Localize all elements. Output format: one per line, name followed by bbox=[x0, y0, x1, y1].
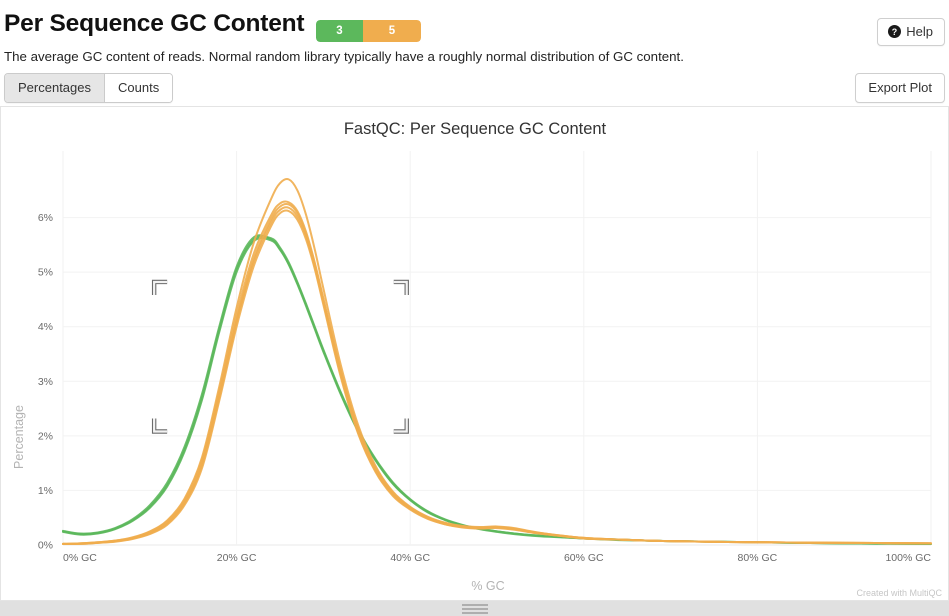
chart-series-group[interactable] bbox=[63, 179, 931, 544]
svg-text:20% GC: 20% GC bbox=[217, 552, 257, 564]
status-badge-group: 3 5 bbox=[316, 20, 421, 42]
x-axis-title: % GC bbox=[471, 579, 504, 593]
multiqc-plot-page: Per Sequence GC Content 3 5 ? Help The a… bbox=[0, 0, 949, 616]
series-line-sample-orange-5 bbox=[63, 211, 931, 544]
svg-text:5%: 5% bbox=[38, 267, 53, 279]
status-badge-pass[interactable]: 3 bbox=[316, 20, 363, 42]
tab-percentages[interactable]: Percentages bbox=[5, 74, 104, 102]
series-line-sample-orange-3 bbox=[63, 204, 931, 544]
svg-text:4%: 4% bbox=[38, 321, 53, 333]
x-axis-tick-labels: 0% GC20% GC40% GC60% GC80% GC100% GC bbox=[63, 552, 931, 564]
help-button-label: Help bbox=[906, 24, 933, 39]
selection-handle-top-right-outline[interactable] bbox=[394, 282, 407, 295]
plot-panel[interactable]: FastQC: Per Sequence GC Content 0%1%2%3%… bbox=[0, 106, 949, 601]
series-line-sample-green-2 bbox=[63, 235, 931, 544]
series-line-sample-orange-4 bbox=[63, 207, 931, 544]
series-line-sample-green-1 bbox=[63, 236, 931, 544]
resize-grip-icon[interactable] bbox=[462, 604, 488, 614]
gc-content-line-chart[interactable]: FastQC: Per Sequence GC Content 0%1%2%3%… bbox=[1, 107, 949, 600]
selection-handle-top-left-outline[interactable] bbox=[154, 282, 167, 295]
page-header: Per Sequence GC Content 3 5 ? Help bbox=[0, 6, 949, 46]
page-description: The average GC content of reads. Normal … bbox=[4, 49, 684, 64]
series-line-sample-orange-2 bbox=[63, 202, 931, 544]
chart-title: FastQC: Per Sequence GC Content bbox=[344, 120, 607, 138]
series-line-sample-green-3 bbox=[63, 238, 931, 544]
svg-text:0%: 0% bbox=[38, 540, 53, 552]
svg-text:1%: 1% bbox=[38, 485, 53, 497]
plot-resize-bar[interactable] bbox=[0, 601, 949, 616]
multiqc-credit: Created with MultiQC bbox=[856, 588, 942, 598]
page-title: Per Sequence GC Content bbox=[4, 10, 304, 38]
export-plot-button[interactable]: Export Plot bbox=[855, 73, 945, 103]
svg-text:2%: 2% bbox=[38, 430, 53, 442]
y-axis-title: Percentage bbox=[12, 405, 26, 469]
svg-text:40% GC: 40% GC bbox=[390, 552, 430, 564]
selection-handles[interactable] bbox=[154, 282, 407, 432]
question-circle-icon: ? bbox=[888, 25, 901, 38]
svg-text:80% GC: 80% GC bbox=[738, 552, 778, 564]
selection-handle-bottom-left-outline[interactable] bbox=[154, 418, 167, 431]
selection-handle-bottom-right-outline[interactable] bbox=[394, 418, 407, 431]
tab-counts[interactable]: Counts bbox=[104, 74, 172, 102]
svg-text:60% GC: 60% GC bbox=[564, 552, 604, 564]
y-axis-tick-labels: 0%1%2%3%4%5%6% bbox=[38, 212, 53, 551]
dataset-toggle-group: Percentages Counts bbox=[4, 73, 173, 103]
svg-text:?: ? bbox=[892, 27, 897, 37]
svg-text:6%: 6% bbox=[38, 212, 53, 224]
help-button[interactable]: ? Help bbox=[877, 18, 945, 46]
svg-text:100% GC: 100% GC bbox=[885, 552, 931, 564]
status-badge-warn[interactable]: 5 bbox=[363, 20, 421, 42]
svg-text:0% GC: 0% GC bbox=[63, 552, 97, 564]
svg-text:3%: 3% bbox=[38, 376, 53, 388]
